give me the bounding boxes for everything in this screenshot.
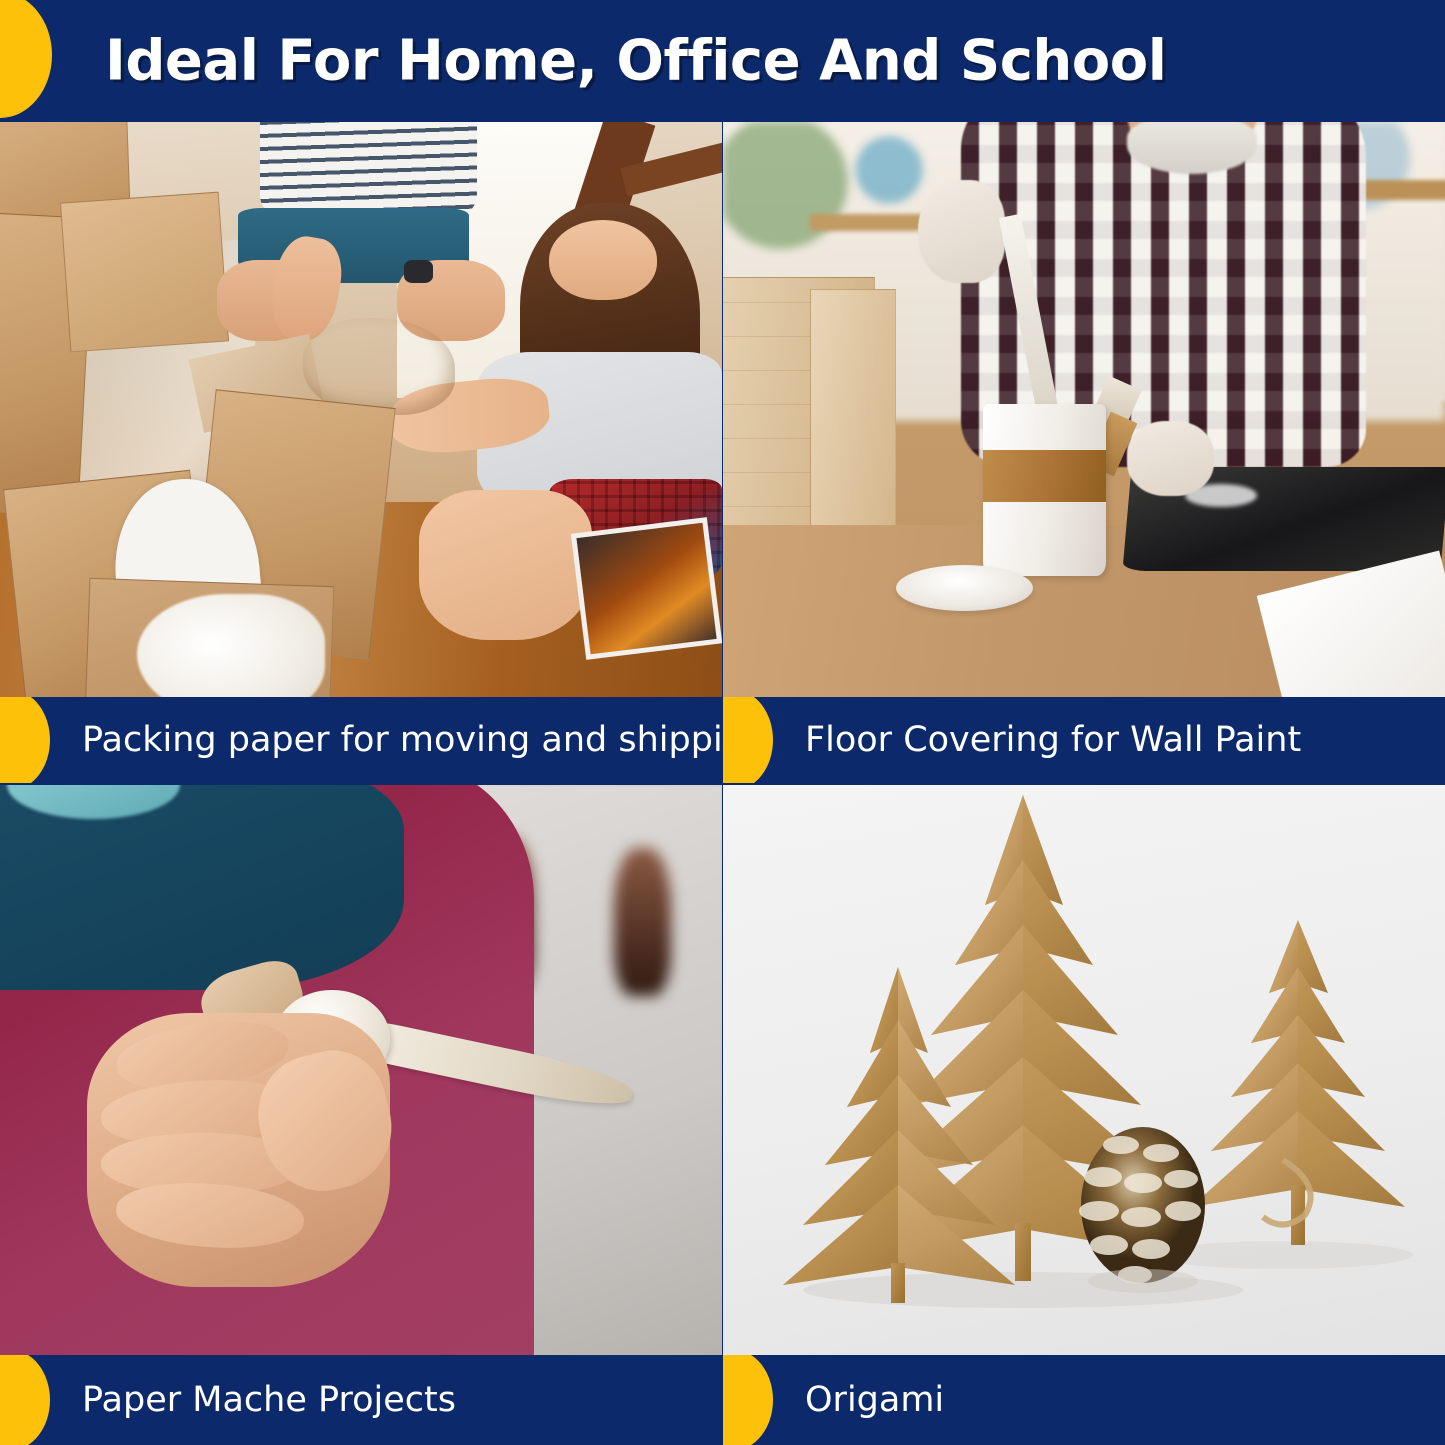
woman-head bbox=[549, 220, 657, 301]
wristwatch bbox=[404, 260, 433, 283]
caption-bar-paper-mache: Paper Mache Projects bbox=[0, 1355, 722, 1445]
photo-paper-mache bbox=[0, 785, 722, 1355]
panel-floor-covering: Floor Covering for Wall Paint bbox=[723, 122, 1445, 783]
caption-bar-origami: Origami bbox=[723, 1355, 1445, 1445]
caption-bar-floor-covering: Floor Covering for Wall Paint bbox=[723, 697, 1445, 783]
latex-glove bbox=[1127, 421, 1214, 496]
cardboard-box bbox=[60, 191, 229, 351]
panel-paper-mache: Paper Mache Projects bbox=[0, 785, 722, 1445]
caption-label-packing: Packing paper for moving and shipping bbox=[82, 720, 722, 760]
page-title: Ideal For Home, Office And School bbox=[105, 29, 1166, 94]
yellow-circle-accent-icon bbox=[0, 0, 52, 118]
photo-floor-covering bbox=[723, 122, 1445, 697]
yellow-circle-accent-icon bbox=[723, 697, 773, 783]
yellow-circle-accent-icon bbox=[0, 697, 50, 783]
header-banner: Ideal For Home, Office And School bbox=[0, 0, 1445, 122]
origami-trees-illustration bbox=[723, 785, 1445, 1355]
fur-blanket bbox=[137, 594, 325, 698]
latex-glove bbox=[918, 180, 1005, 284]
yellow-circle-accent-icon bbox=[0, 1355, 50, 1445]
caption-label-floor-covering: Floor Covering for Wall Paint bbox=[805, 720, 1301, 760]
blurred-background-object bbox=[614, 848, 672, 996]
photo-packing-paper bbox=[0, 122, 722, 697]
caption-label-paper-mache: Paper Mache Projects bbox=[82, 1380, 456, 1420]
panel-divider bbox=[722, 122, 723, 1445]
picture-frame bbox=[570, 517, 722, 659]
panel-origami: Origami bbox=[723, 785, 1445, 1445]
photo-origami bbox=[723, 785, 1445, 1355]
woman-leg bbox=[419, 490, 592, 640]
caption-label-origami: Origami bbox=[805, 1380, 944, 1420]
paint-can-label bbox=[983, 450, 1106, 502]
product-infographic: Ideal For Home, Office And School bbox=[0, 0, 1445, 1445]
panel-packing: Packing paper for moving and shipping bbox=[0, 122, 722, 783]
yellow-circle-accent-icon bbox=[723, 1355, 773, 1445]
paint-can-lid bbox=[896, 565, 1033, 611]
caption-bar-packing: Packing paper for moving and shipping bbox=[0, 697, 722, 783]
